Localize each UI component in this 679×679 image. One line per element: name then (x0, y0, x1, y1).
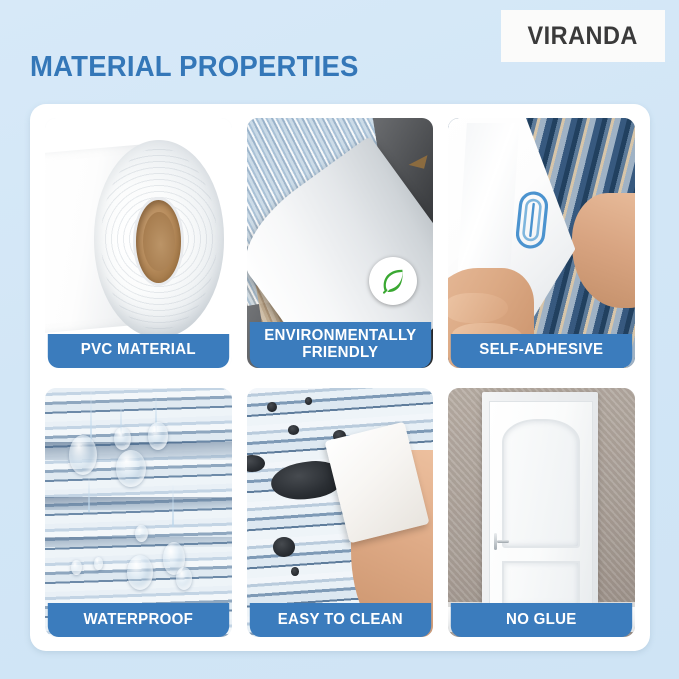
feature-label-self-adhesive: SELF-ADHESIVE (451, 334, 632, 368)
waterproof-droplets-image (45, 388, 232, 638)
brand-name: VIRANDA (528, 22, 638, 51)
pvc-roll-image (45, 118, 232, 368)
feature-label-environmentally-friendly: ENVIRONMENTALLY FRIENDLY (249, 322, 430, 368)
feature-label-pvc-material: PVC MATERIAL (48, 334, 229, 368)
paperclip-icon (509, 186, 555, 254)
door-handle-icon (493, 532, 509, 551)
feature-tile-no-glue[interactable]: NO GLUE (448, 388, 635, 638)
leaf-icon (378, 266, 408, 296)
feature-tile-pvc-material[interactable]: PVC MATERIAL (45, 118, 232, 368)
feature-tile-easy-to-clean[interactable]: EASY TO CLEAN (247, 388, 434, 638)
feature-tile-waterproof[interactable]: WATERPROOF (45, 388, 232, 638)
feature-tile-environmentally-friendly[interactable]: ENVIRONMENTALLY FRIENDLY (247, 118, 434, 368)
brand-logo-box: VIRANDA (501, 10, 665, 62)
easy-to-clean-image (247, 388, 434, 638)
feature-label-waterproof: WATERPROOF (48, 603, 229, 637)
feature-tile-self-adhesive[interactable]: SELF-ADHESIVE (448, 118, 635, 368)
page-title: MATERIAL PROPERTIES (30, 51, 359, 84)
no-glue-door-image (448, 388, 635, 638)
feature-card: PVC MATERIAL (30, 104, 650, 651)
self-adhesive-peel-image (448, 118, 635, 368)
feature-label-easy-to-clean: EASY TO CLEAN (249, 603, 430, 637)
feature-label-no-glue: NO GLUE (451, 603, 632, 637)
eco-badge (369, 257, 417, 305)
feature-grid: PVC MATERIAL (45, 118, 635, 637)
